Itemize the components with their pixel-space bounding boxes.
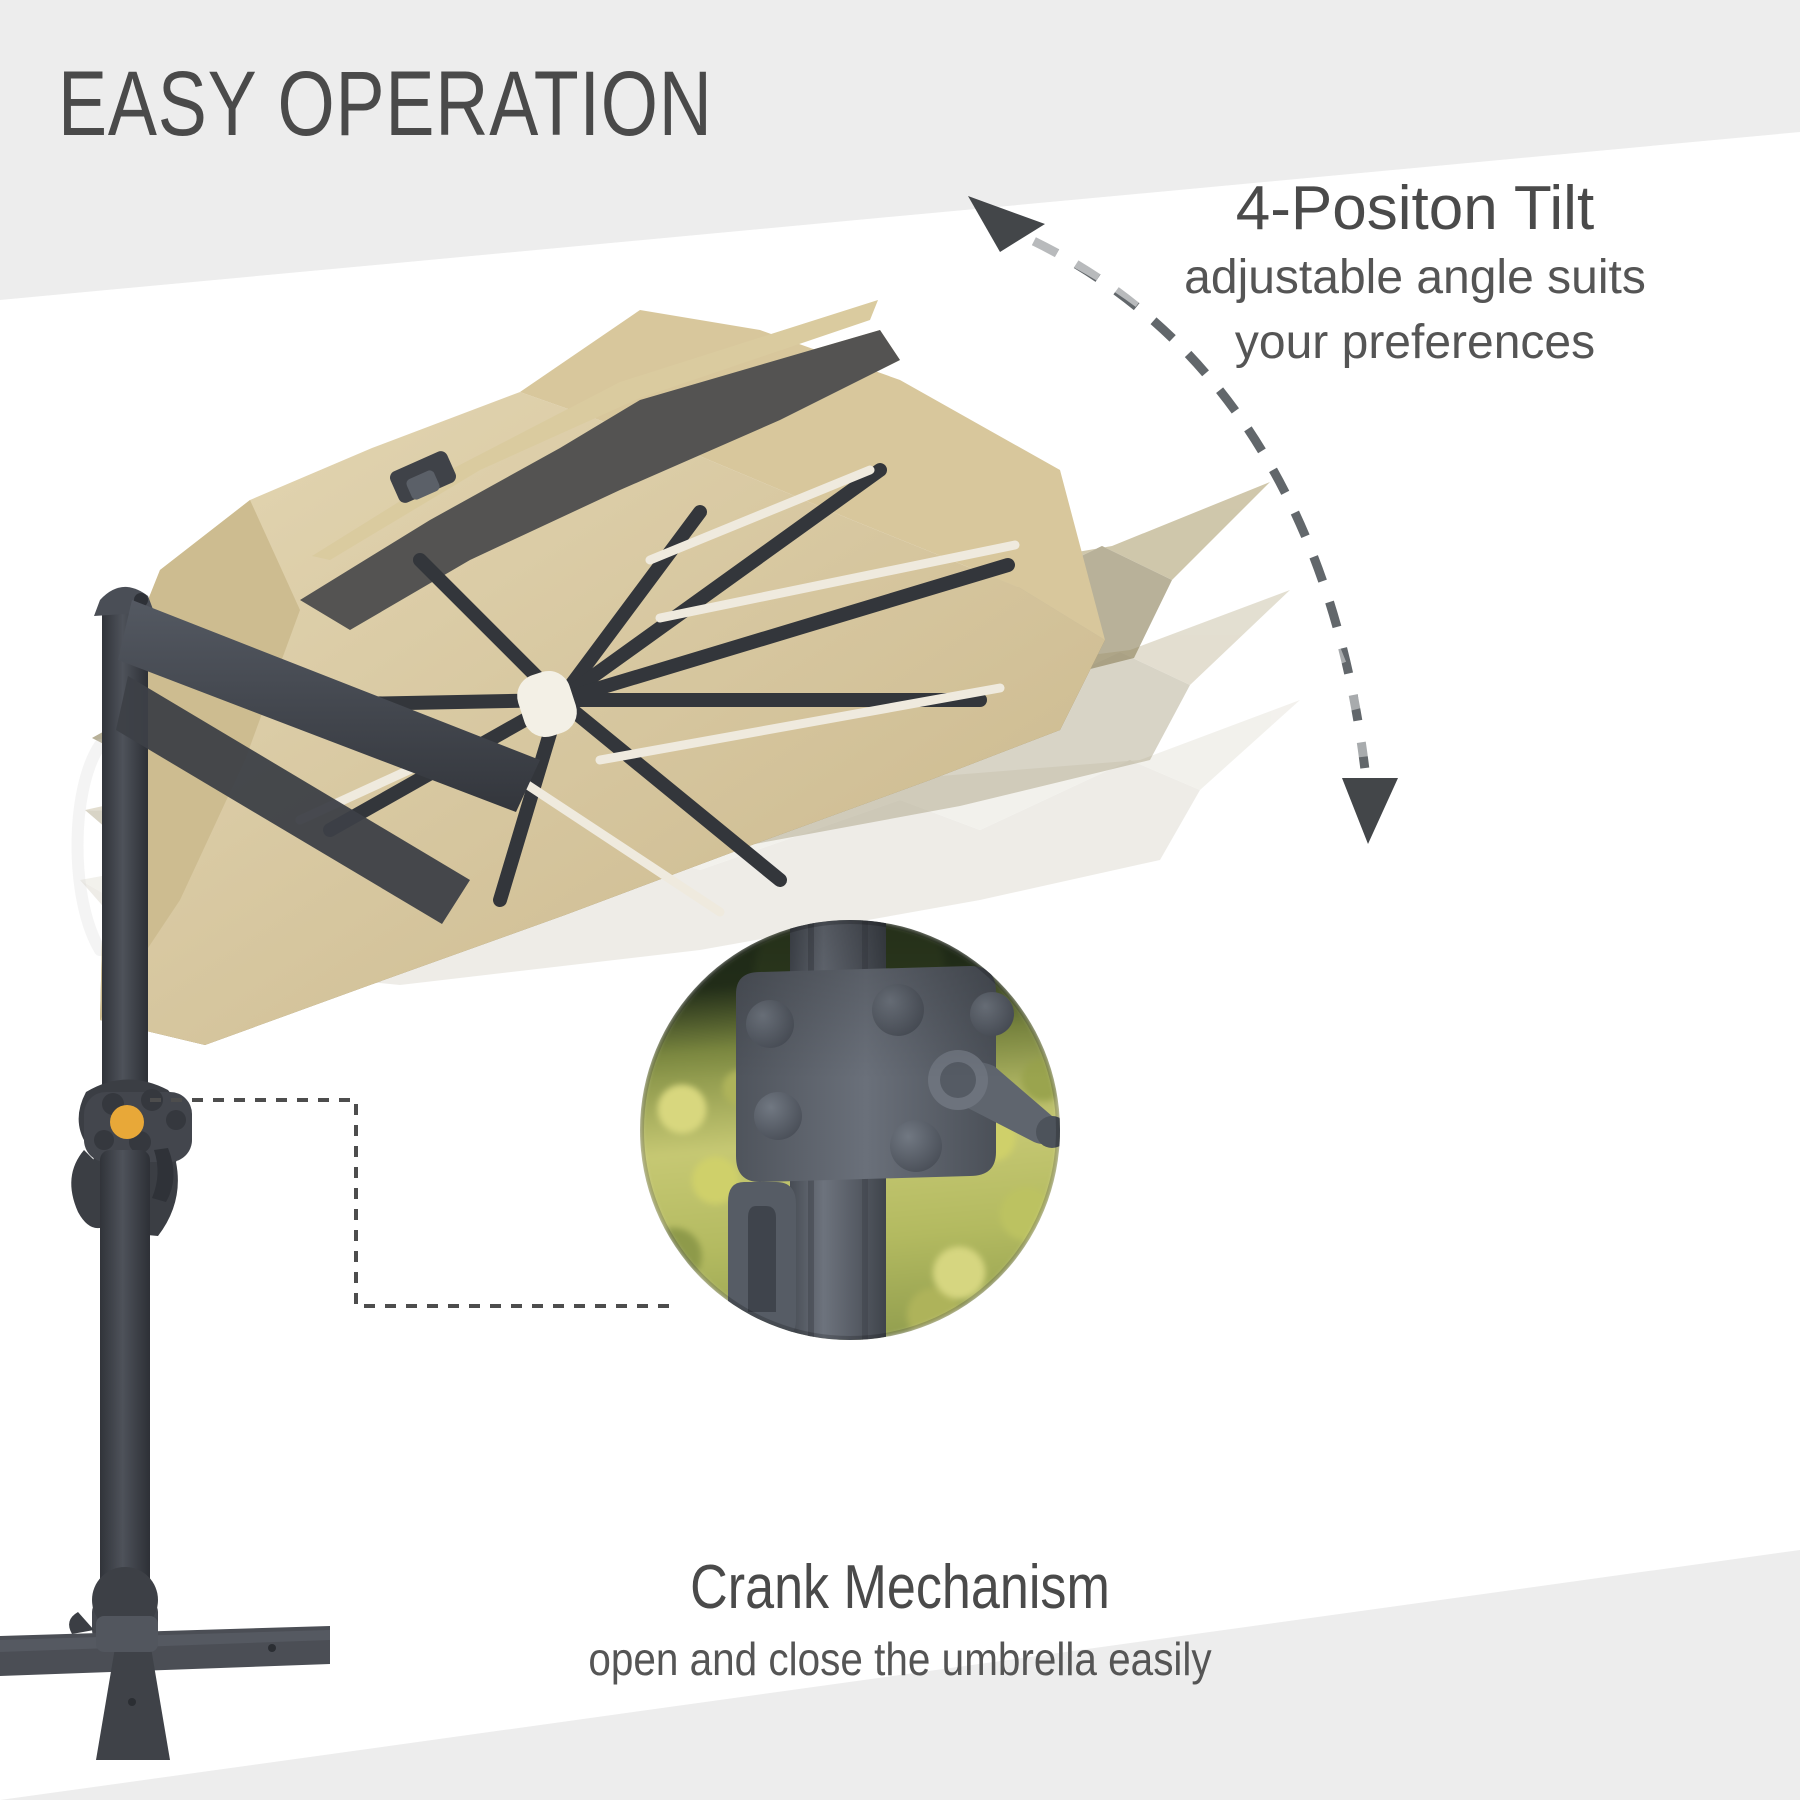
tilt-arc-arrow-bottom bbox=[1342, 778, 1398, 844]
tilt-sub-line-1: adjustable angle suits bbox=[1035, 251, 1795, 306]
tilt-sub-line-2: your preferences bbox=[1035, 316, 1795, 371]
tilt-callout: 4-Positon Tilt adjustable angle suits yo… bbox=[1035, 176, 1795, 371]
cross-base bbox=[0, 1612, 330, 1760]
crank-heading: Crank Mechanism bbox=[497, 1555, 1303, 1620]
tilt-indicator-dot bbox=[110, 1105, 144, 1139]
crank-callout-line bbox=[150, 1100, 672, 1306]
inset-vignette bbox=[640, 920, 1060, 1340]
crank-callout: Crank Mechanism open and close the umbre… bbox=[420, 1555, 1380, 1685]
crank-mechanism-inset bbox=[640, 920, 1060, 1340]
infographic-canvas: EASY OPERATION bbox=[0, 0, 1800, 1800]
tilt-heading: 4-Positon Tilt bbox=[1035, 176, 1795, 241]
crank-subheading: open and close the umbrella easily bbox=[478, 1634, 1323, 1685]
